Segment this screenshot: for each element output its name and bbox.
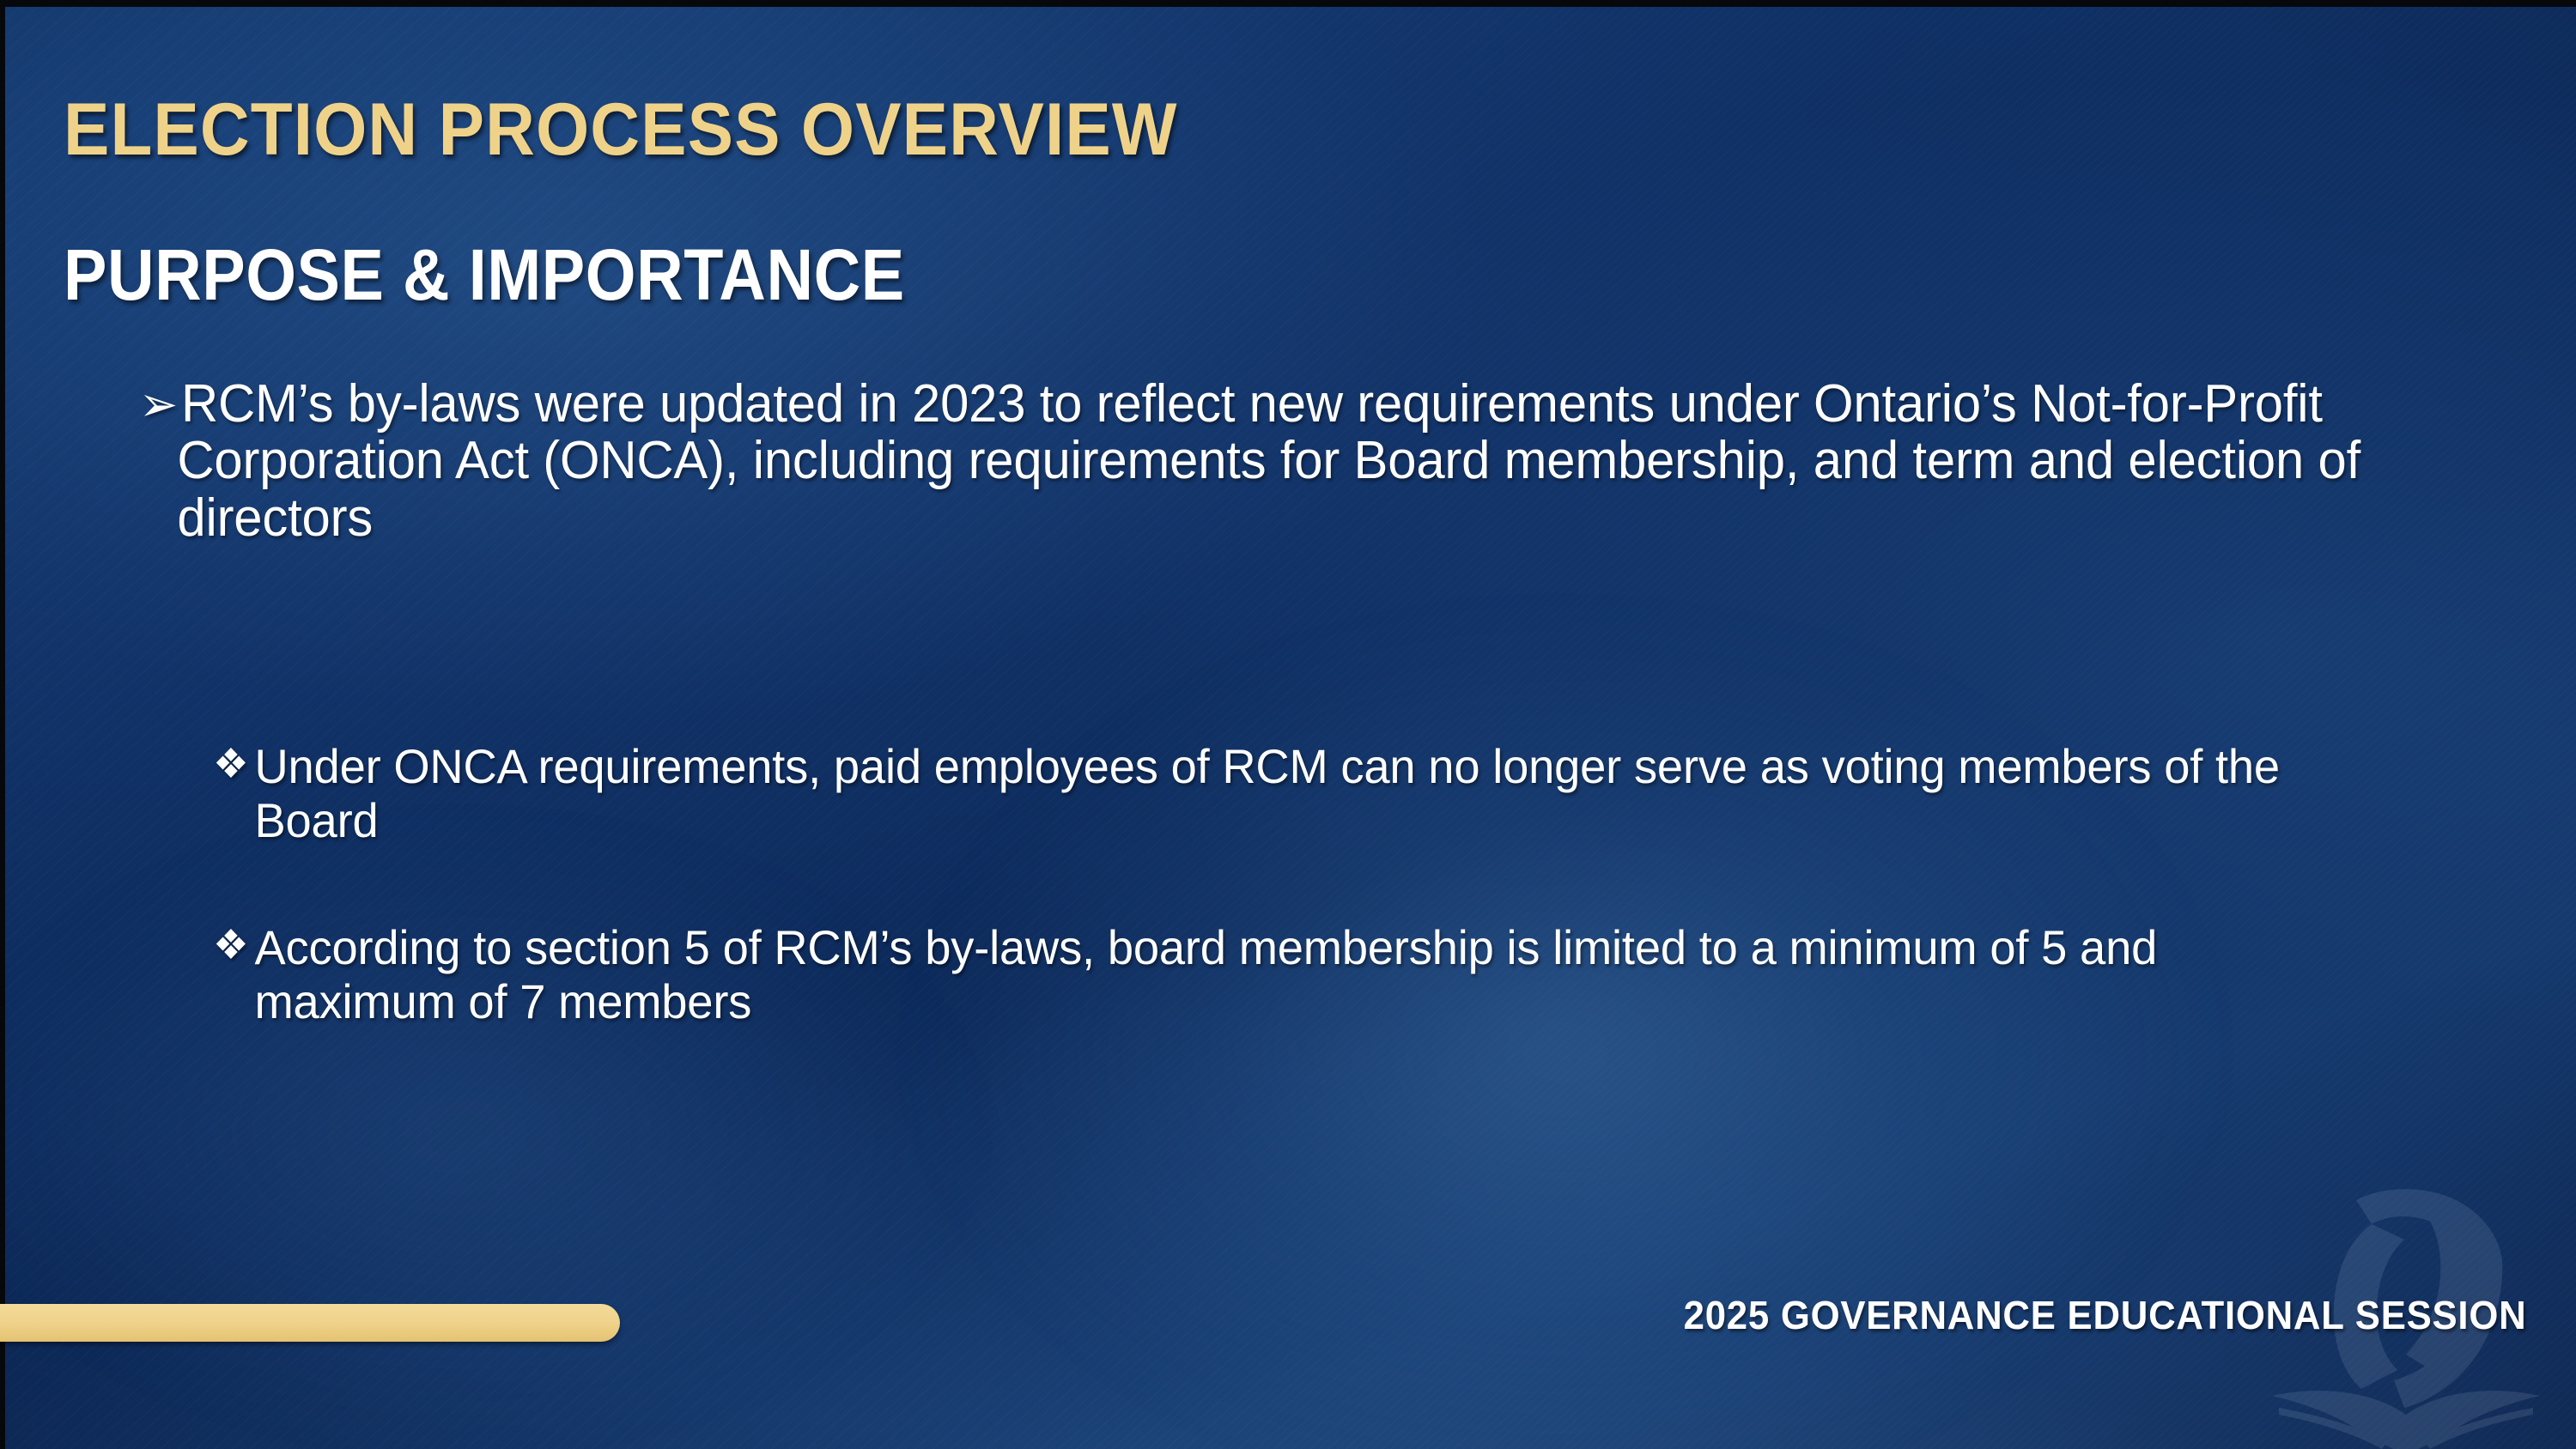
background-vignette xyxy=(0,0,2576,1449)
page-title: ELECTION PROCESS OVERVIEW xyxy=(64,93,1177,167)
sub-bullet-text: According to section 5 of RCM’s by-laws,… xyxy=(255,920,2158,1028)
lead-bullet-text: RCM’s by-laws were updated in 2023 to re… xyxy=(177,374,2360,548)
sub-bullet-text: Under ONCA requirements, paid employees … xyxy=(255,739,2280,847)
list-item: ❖ According to section 5 of RCM’s by-law… xyxy=(213,921,2345,1028)
sub-bullet-list: ❖ Under ONCA requirements, paid employee… xyxy=(213,740,2411,1029)
presentation-slide: ELECTION PROCESS OVERVIEW PURPOSE & IMPO… xyxy=(0,0,2576,1449)
section-heading: PURPOSE & IMPORTANCE xyxy=(64,239,905,311)
footer-accent-bar xyxy=(0,1304,620,1342)
list-item: ❖ Under ONCA requirements, paid employee… xyxy=(213,740,2345,847)
body-content: ➢RCM’s by-laws were updated in 2023 to r… xyxy=(139,376,2475,547)
slide-left-edge xyxy=(0,0,5,1449)
lead-bullet-item: ➢RCM’s by-laws were updated in 2023 to r… xyxy=(139,376,2393,547)
arrow-bullet-icon: ➢ xyxy=(139,377,181,431)
diamond-bullet-icon: ❖ xyxy=(213,742,249,788)
footer-label: 2025 GOVERNANCE EDUCATIONAL SESSION xyxy=(1683,1292,2526,1338)
diamond-bullet-icon: ❖ xyxy=(213,923,249,969)
slide-top-edge xyxy=(0,0,2576,7)
